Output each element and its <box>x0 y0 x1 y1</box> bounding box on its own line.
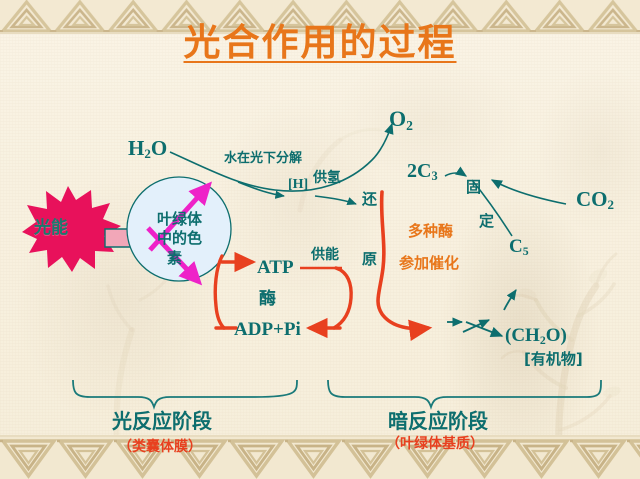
stage-braces <box>73 380 601 407</box>
label-light-reaction-stage: 光反应阶段 <box>112 411 212 431</box>
label-pigment-line3: 素 <box>167 251 182 266</box>
label-water-decomposition: 水在光下分解 <box>224 152 302 165</box>
label-light-energy: 光能 <box>34 220 68 237</box>
page-title: 光合作用的过程 <box>0 12 640 66</box>
label-enzymes-line1: 多种酶 <box>408 224 453 239</box>
label-fix-second-char: 定 <box>479 214 494 229</box>
label-pigment-line1: 叶绿体 <box>157 212 202 227</box>
label-enzyme: 酶 <box>259 291 276 308</box>
label-atp: ATP <box>257 258 294 277</box>
label-hydrogen-carrier: [H] <box>288 178 308 192</box>
organic-product-arrows <box>447 320 502 336</box>
label-carbon-dioxide: CO2 <box>576 189 614 210</box>
label-organic-name: [有机物] <box>524 352 583 367</box>
label-supply-hydrogen: 供氢 <box>313 171 341 185</box>
label-reduce-second-char: 原 <box>362 252 377 267</box>
label-light-reaction-location: （类囊体膜） <box>118 440 202 454</box>
label-oxygen: O2 <box>389 108 413 130</box>
label-organic-formula: (CH2O) <box>505 326 567 345</box>
label-dark-reaction-location: （叶绿体基质） <box>386 437 484 451</box>
label-c5-compound: C5 <box>509 237 529 256</box>
label-dark-reaction-stage: 暗反应阶段 <box>388 411 488 431</box>
label-c3-compound: 2C3 <box>407 161 438 181</box>
label-reduce-first-char: 还 <box>362 192 377 207</box>
label-enzymes-line2: 参加催化 <box>399 256 459 271</box>
photosynthesis-diagram <box>0 0 640 479</box>
slide-canvas: 光合作用的过程 <box>0 0 640 479</box>
c5-regeneration-arrow <box>504 290 516 310</box>
label-pigment-line2: 中的色 <box>157 231 202 246</box>
label-fix-first-char: 固 <box>466 180 481 195</box>
label-supply-energy: 供能 <box>311 248 339 262</box>
co2-fixation-arrow <box>445 173 566 204</box>
label-adp-pi: ADP+Pi <box>234 320 301 339</box>
label-water: H2O <box>128 138 167 159</box>
